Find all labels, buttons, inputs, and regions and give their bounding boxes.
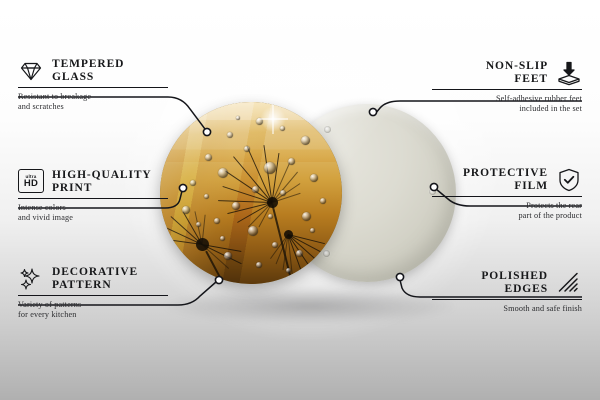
glass-cutting-board-round <box>160 102 342 284</box>
callout-non-slip-feet[interactable]: NON-SLIPFEET Self-adhesive rubber feetin… <box>432 60 582 114</box>
callout-high-quality-print[interactable]: ultra HD HIGH-QUALITYPRINT Intense color… <box>18 169 168 223</box>
diamond-icon <box>18 58 44 84</box>
callout-rule <box>18 87 168 88</box>
callout-description: Smooth and safe finish <box>432 304 582 314</box>
callout-rule <box>18 198 168 199</box>
dandelion-artwork <box>160 102 342 284</box>
callout-rule <box>432 196 582 197</box>
diagonal-lines-icon <box>556 270 582 296</box>
callout-title: NON-SLIPFEET <box>486 60 548 86</box>
infographic-canvas: TEMPEREDGLASS Resistant to breakageand s… <box>0 0 600 400</box>
callout-title: TEMPEREDGLASS <box>52 58 124 84</box>
callout-description: Variety of patternsfor every kitchen <box>18 300 168 320</box>
callout-title: POLISHEDEDGES <box>481 270 548 296</box>
ultra-hd-icon: ultra HD <box>18 169 44 195</box>
callout-polished-edges[interactable]: POLISHEDEDGES Smooth and safe finish <box>432 270 582 314</box>
artwork-light-bands <box>160 102 342 284</box>
callout-description: Protects the rearpart of the product <box>432 201 582 221</box>
callout-rule <box>18 295 168 296</box>
press-down-pad-icon <box>556 60 582 86</box>
callout-description: Intense colorsand vivid image <box>18 203 168 223</box>
callout-protective-film[interactable]: PROTECTIVEFILM Protects the rearpart of … <box>432 167 582 221</box>
callout-title: PROTECTIVEFILM <box>463 167 548 193</box>
callout-rule <box>432 299 582 300</box>
callout-decorative-pattern[interactable]: DECORATIVEPATTERN Variety of patternsfor… <box>18 266 168 320</box>
callout-description: Resistant to breakageand scratches <box>18 92 168 112</box>
ultra-hd-large-label: HD <box>24 179 38 189</box>
shield-check-icon <box>556 167 582 193</box>
callout-title: DECORATIVEPATTERN <box>52 266 138 292</box>
sparkles-icon <box>18 266 44 292</box>
callout-title: HIGH-QUALITYPRINT <box>52 169 152 195</box>
product-shadow <box>165 288 455 324</box>
callout-description: Self-adhesive rubber feetincluded in the… <box>432 94 582 114</box>
callout-tempered-glass[interactable]: TEMPEREDGLASS Resistant to breakageand s… <box>18 58 168 112</box>
callout-rule <box>432 89 582 90</box>
